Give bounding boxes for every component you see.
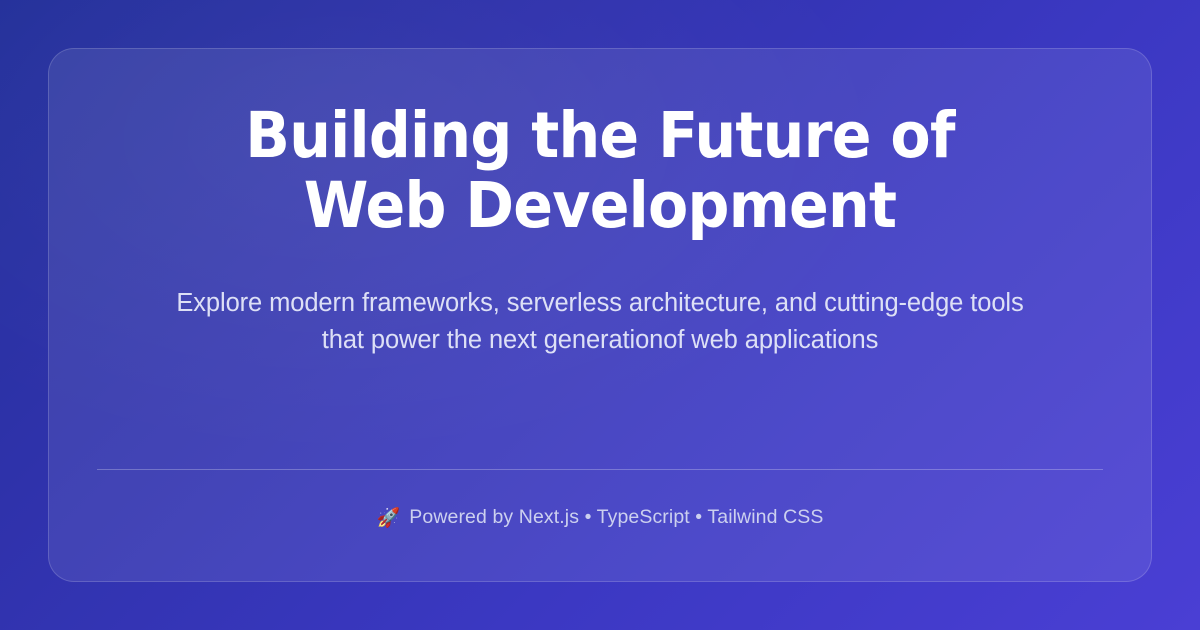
og-image-canvas: Building the Future of Web Development E… [0,0,1200,630]
footer-divider [97,469,1103,470]
footer-credits: 🚀 Powered by Next.js • TypeScript • Tail… [377,506,824,529]
page-subtitle: Explore modern frameworks, serverless ar… [160,285,1040,359]
rocket-icon: 🚀 [377,509,401,528]
page-title: Building the Future of Web Development [191,101,1009,241]
footer-credits-label: Powered by Next.js • TypeScript • Tailwi… [409,506,823,529]
content-card: Building the Future of Web Development E… [48,48,1152,582]
